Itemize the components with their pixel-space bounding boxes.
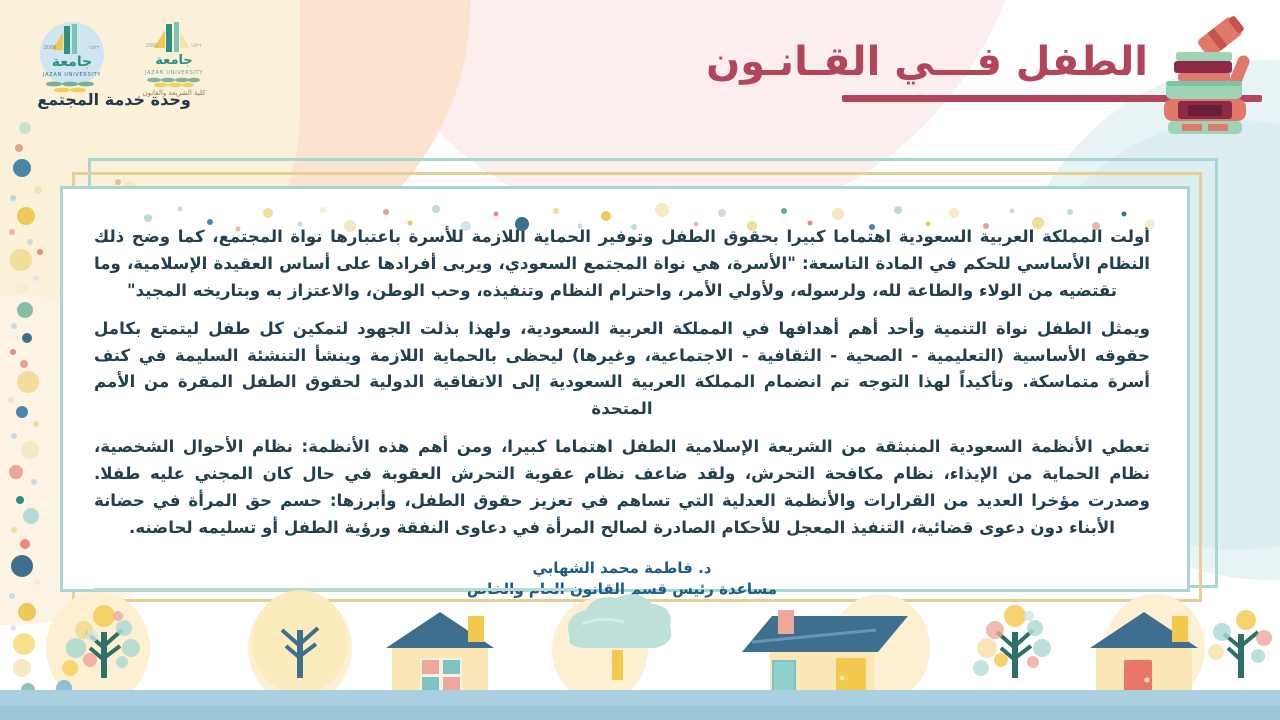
page-title: الطفل فـــي القـانـون <box>706 40 1148 84</box>
logo-group: جامعة 2006 ١٤٢٦ JAZAN UNIVERSITY كلية ال… <box>30 16 216 98</box>
poster-canvas: جامعة 2006 ١٤٢٦ JAZAN UNIVERSITY كلية ال… <box>0 0 1280 720</box>
svg-text:جامعة: جامعة <box>52 54 92 70</box>
svg-text:جامعة: جامعة <box>155 53 193 68</box>
svg-text:2006: 2006 <box>146 43 159 49</box>
village-svg <box>0 590 1280 720</box>
jazan-college-sharia-law-logo: جامعة 2006 ١٤٢٦ JAZAN UNIVERSITY كلية ال… <box>132 16 216 98</box>
paragraph-3: تعطي الأنظمة السعودية المنبثقة من الشريع… <box>94 434 1150 542</box>
village-illustration <box>0 590 1280 720</box>
signature-name: د. فاطمة محمد الشهابي <box>94 558 1150 580</box>
svg-text:١٤٢٦: ١٤٢٦ <box>191 43 202 49</box>
paragraph-1: أولت المملكة العربية السعودية اهتماما كب… <box>94 224 1150 305</box>
paragraph-2: ويمثل الطفل نواة التنمية وأحد أهم أهدافه… <box>94 316 1150 424</box>
svg-text:JAZAN UNIVERSITY: JAZAN UNIVERSITY <box>144 70 203 76</box>
gavel-and-books-icon <box>1144 8 1272 136</box>
svg-text:2006: 2006 <box>44 45 57 51</box>
content-panel: أولت المملكة العربية السعودية اهتماما كب… <box>70 196 1174 576</box>
jazan-university-logo: جامعة 2006 ١٤٢٦ JAZAN UNIVERSITY <box>30 16 114 98</box>
page-title-wrap: الطفل فـــي القـانـون <box>706 40 1148 84</box>
svg-text:١٤٢٦: ١٤٢٦ <box>89 45 100 51</box>
unit-label: وحدة خدمة المجتمع <box>14 90 214 109</box>
svg-text:JAZAN UNIVERSITY: JAZAN UNIVERSITY <box>42 72 101 78</box>
header: جامعة 2006 ١٤٢٦ JAZAN UNIVERSITY كلية ال… <box>0 0 1280 150</box>
